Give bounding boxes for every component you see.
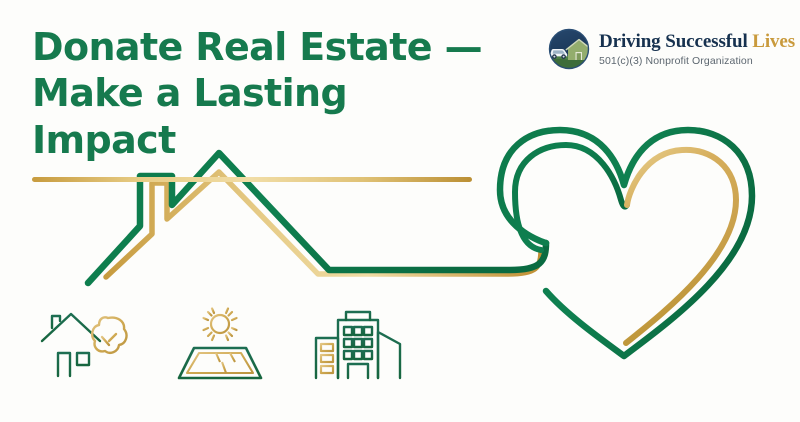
- logo-tagline: 501(c)(3) Nonprofit Organization: [599, 56, 795, 67]
- logo-title-accent: Lives: [748, 31, 795, 52]
- car-and-house-circle-icon: [548, 28, 590, 70]
- headline-divider: [32, 177, 472, 182]
- logo-text: Driving Successful Lives 501(c)(3) Nonpr…: [599, 32, 795, 67]
- residential-house-with-tree-icon: [34, 304, 130, 386]
- page-title: Donate Real Estate — Make a Lasting Impa…: [32, 24, 502, 163]
- sun-icon: [203, 307, 237, 341]
- land-plot-with-sun-icon: [172, 304, 268, 386]
- logo-lockup[interactable]: Driving Successful Lives 501(c)(3) Nonpr…: [548, 28, 795, 70]
- heart-outline-green: [500, 130, 752, 356]
- commercial-buildings-icon: [310, 304, 410, 386]
- donate-real-estate-banner: Donate Real Estate — Make a Lasting Impa…: [0, 0, 800, 422]
- headline-block: Donate Real Estate — Make a Lasting Impa…: [32, 24, 502, 182]
- property-type-icon-row: [34, 304, 410, 386]
- logo-title-primary: Driving Successful: [599, 31, 748, 52]
- logo-title: Driving Successful Lives: [599, 32, 795, 51]
